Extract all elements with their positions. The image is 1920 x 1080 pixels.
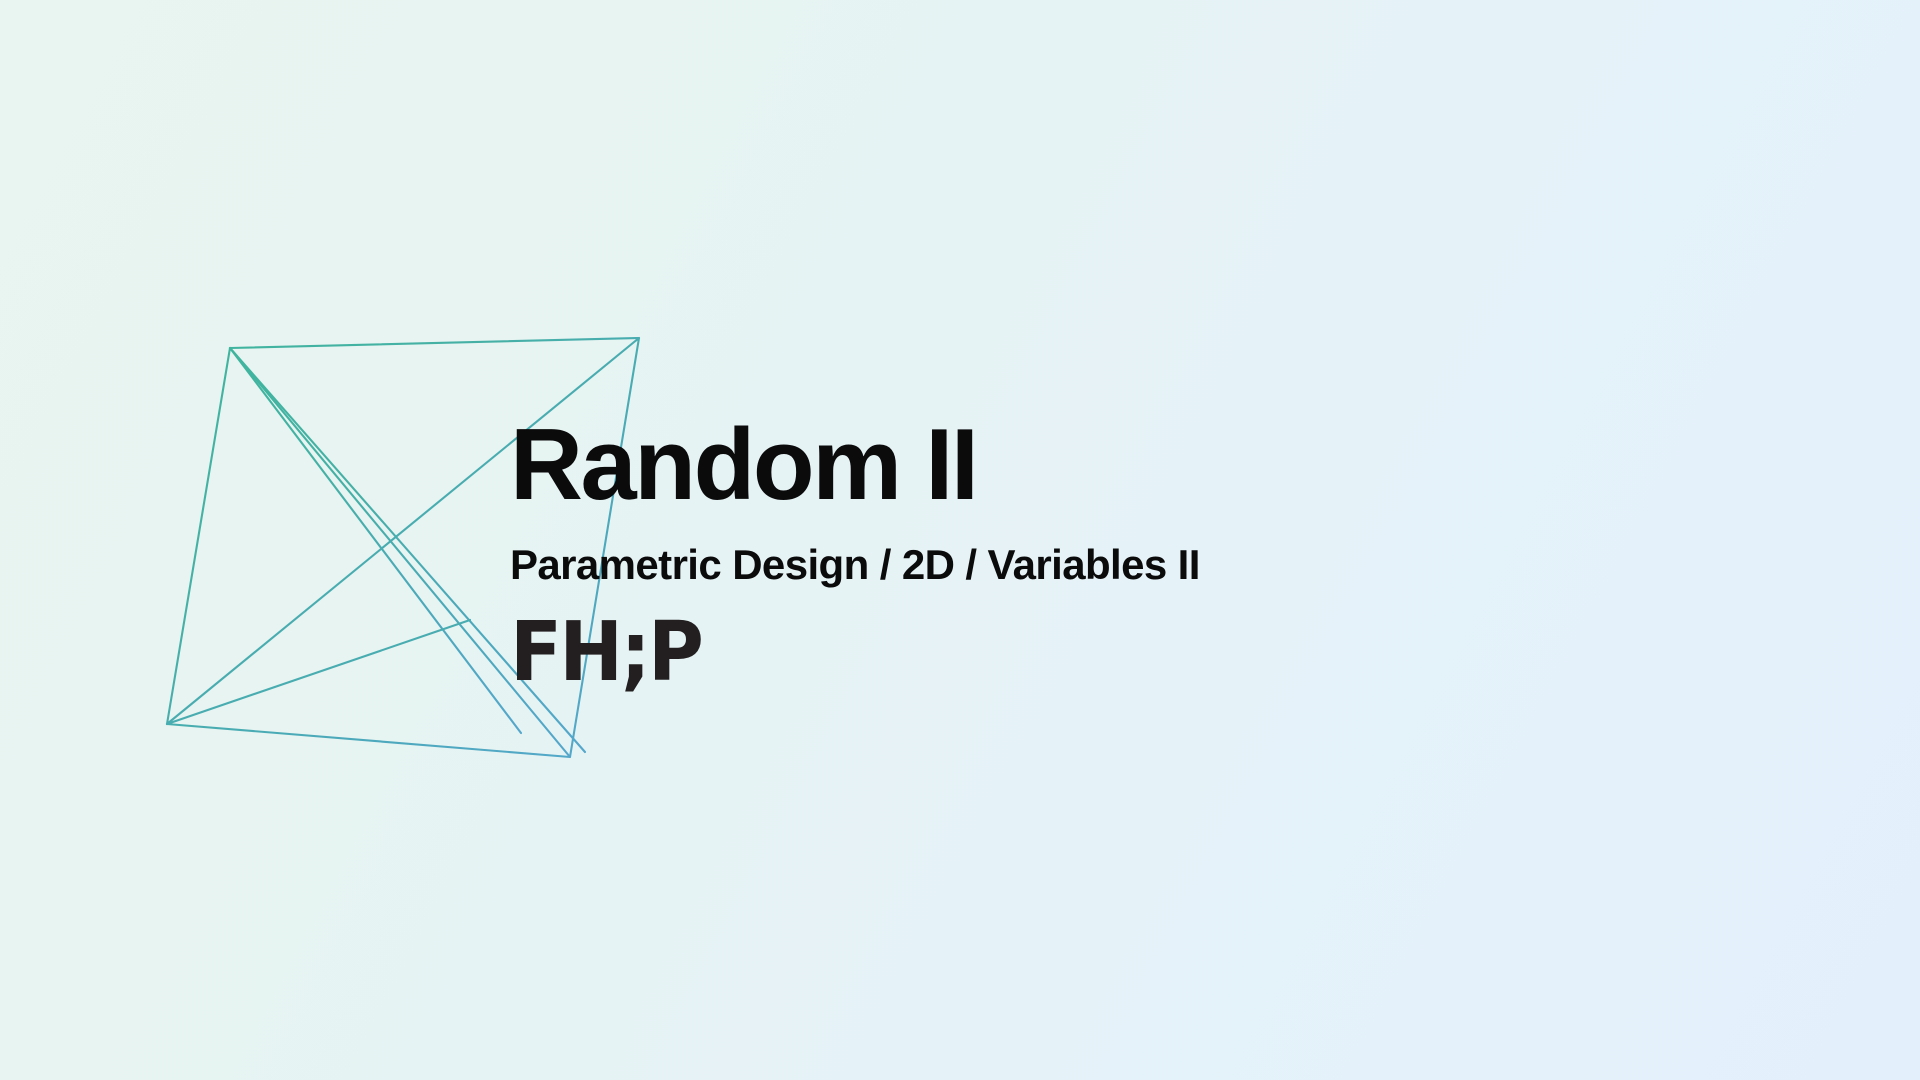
chord-e [167,620,470,724]
presentation-slide: Random II Parametric Design / 2D / Varia… [0,0,1920,1080]
chord-d [230,348,521,733]
page-title: Random II [510,415,1810,516]
brand-logo: FH;P [510,612,1719,694]
page-subtitle: Parametric Design / 2D / Variables II [510,544,1810,586]
slide-text-block: Random II Parametric Design / 2D / Varia… [510,415,1810,694]
